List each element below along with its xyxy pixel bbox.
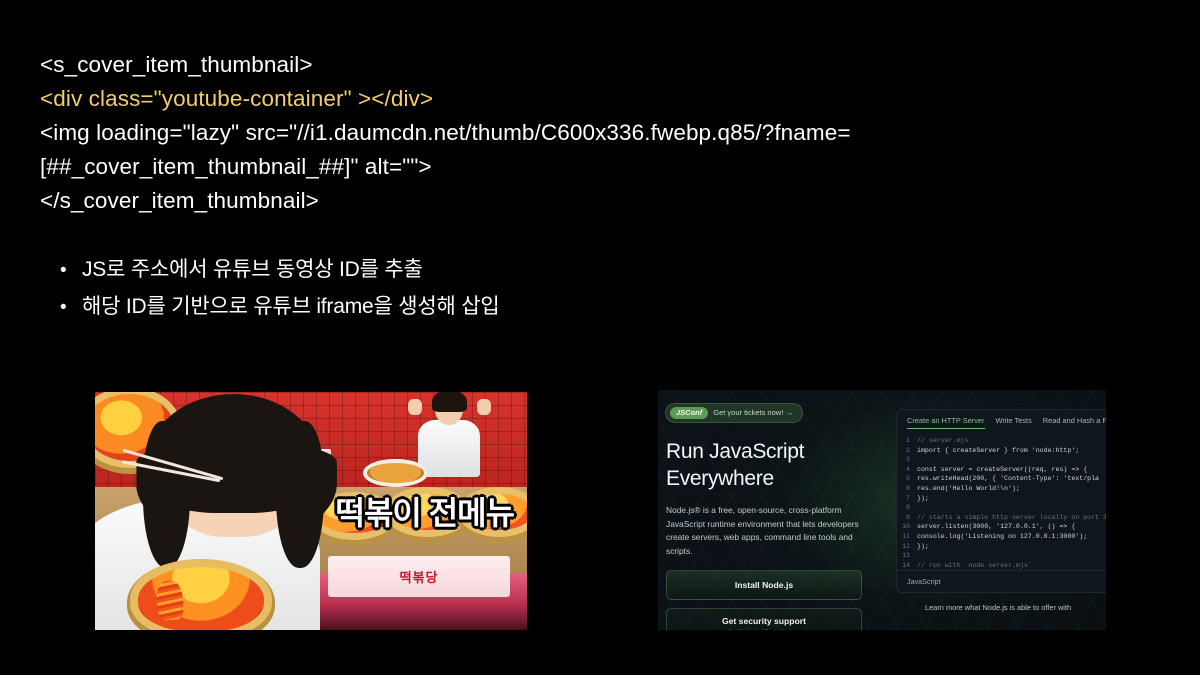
jsconf-announcement-text: Get your tickets now! → <box>713 409 793 417</box>
code-line: 1// server.mjs <box>897 436 1106 446</box>
code-line-text: server.listen(3000, '127.0.0.1', () => { <box>917 522 1075 532</box>
shop-signboard-text: 떡볶당 <box>400 567 439 586</box>
code-line: 5 res.writeHead(200, { 'Content-Type': '… <box>897 474 1106 484</box>
code-language-label: JavaScript <box>907 577 941 586</box>
bullet-text: 해당 ID를 기반으로 유튜브 iframe을 생성해 삽입 <box>82 289 499 325</box>
get-security-support-button-sublabel: for Node.js 18 and below <box>673 629 855 630</box>
code-line-text: console.log('Listening on 127.0.0.1:3000… <box>917 532 1087 542</box>
install-nodejs-button[interactable]: Install Node.js <box>666 570 862 600</box>
nodejs-heading-line-2: Everywhere <box>666 465 862 492</box>
code-snippet-line-4: [##_cover_item_thumbnail_##]" alt=""> <box>40 150 1050 184</box>
code-line: 12}); <box>897 542 1106 552</box>
code-line-text: res.writeHead(200, { 'Content-Type': 'te… <box>917 474 1099 484</box>
youtube-thumbnail-image: 떡볶당 떡볶이 전메뉴 <box>95 392 527 630</box>
code-line-number: 6 <box>897 484 917 494</box>
get-security-support-button-label: Get security support <box>673 616 855 626</box>
code-example-tabs: Create an HTTP Server Write Tests Read a… <box>897 410 1106 429</box>
code-line: 8 <box>897 503 1106 513</box>
list-item: • JS로 주소에서 유튜브 동영상 ID를 추출 <box>60 252 860 289</box>
jsconf-announcement-banner[interactable]: JSConf Get your tickets now! → <box>665 403 803 423</box>
code-line-number: 13 <box>897 551 917 561</box>
background-person-body <box>418 420 480 477</box>
background-person-hand-left <box>408 399 422 415</box>
code-line-text: // run with `node server.mjs` <box>917 561 1032 571</box>
code-line-number: 14 <box>897 561 917 571</box>
code-line: 6 res.end('Hello World!\n'); <box>897 484 1106 494</box>
eater-hair-strand-right <box>276 421 324 569</box>
code-line: 9// starts a simple http server locally … <box>897 513 1106 523</box>
install-nodejs-button-label: Install Node.js <box>673 580 855 590</box>
thumbnail-caption-overlay: 떡볶이 전메뉴 <box>336 488 515 534</box>
code-line-number: 12 <box>897 542 917 552</box>
tab-read-and-hash-a-file[interactable]: Read and Hash a File <box>1043 416 1106 429</box>
nodejs-hero-column: Run JavaScript Everywhere Node.js® is a … <box>666 438 862 630</box>
shop-signboard: 떡볶당 <box>328 556 509 596</box>
code-line-number: 2 <box>897 446 917 456</box>
code-snippet-line-5: </s_cover_item_thumbnail> <box>40 184 1050 218</box>
bullet-list: • JS로 주소에서 유튜브 동영상 ID를 추출 • 해당 ID를 기반으로 … <box>60 252 860 326</box>
code-line-number: 3 <box>897 455 917 465</box>
code-line-number: 7 <box>897 494 917 504</box>
code-snippet-line-3: <img loading="lazy" src="//i1.daumcdn.ne… <box>40 116 1050 150</box>
nodejs-heading-line-1: Run JavaScript <box>666 438 862 465</box>
code-snippet-line-1: <s_cover_item_thumbnail> <box>40 48 1050 82</box>
code-line-number: 9 <box>897 513 917 523</box>
fried-snack-bowl <box>363 459 428 488</box>
get-security-support-button[interactable]: Get security support for Node.js 18 and … <box>666 608 862 630</box>
code-line-number: 10 <box>897 522 917 532</box>
code-line: 3 <box>897 455 1106 465</box>
code-line-text: res.end('Hello World!\n'); <box>917 484 1020 494</box>
bullet-marker-icon: • <box>60 253 82 289</box>
code-line-number: 5 <box>897 474 917 484</box>
code-line: 10server.listen(3000, '127.0.0.1', () =>… <box>897 522 1106 532</box>
thumbnail-scene: 떡볶당 떡볶이 전메뉴 <box>95 392 527 630</box>
code-line-number: 1 <box>897 436 917 446</box>
jsconf-badge: JSConf <box>670 407 708 419</box>
tab-create-an-http-server[interactable]: Create an HTTP Server <box>907 416 985 429</box>
code-language-bar: JavaScript <box>897 570 1106 592</box>
code-line-number: 11 <box>897 532 917 542</box>
code-line: 4const server = createServer((req, res) … <box>897 465 1106 475</box>
code-line: 14// run with `node server.mjs` <box>897 561 1106 571</box>
background-person-hair <box>432 392 467 412</box>
code-line: 2import { createServer } from 'node:http… <box>897 446 1106 456</box>
lifted-noodles <box>155 580 183 621</box>
code-line-number: 8 <box>897 503 917 513</box>
code-line-text: import { createServer } from 'node:http'… <box>917 446 1079 456</box>
code-example-body: 1// server.mjs 2import { createServer } … <box>897 429 1106 570</box>
code-line-text: }); <box>917 494 929 504</box>
background-person-hand-right <box>477 399 491 415</box>
bullet-marker-icon: • <box>60 290 82 326</box>
code-snippet-block: <s_cover_item_thumbnail> <div class="you… <box>40 48 1050 218</box>
list-item: • 해당 ID를 기반으로 유튜브 iframe을 생성해 삽입 <box>60 289 860 326</box>
code-line-text: }); <box>917 542 929 552</box>
code-line-number: 4 <box>897 465 917 475</box>
code-line: 13 <box>897 551 1106 561</box>
learn-more-text: Learn more what Node.js is able to offer… <box>925 603 1071 612</box>
code-line-text: const server = createServer((req, res) =… <box>917 465 1087 475</box>
nodejs-description-paragraph: Node.js® is a free, open-source, cross-p… <box>666 504 862 558</box>
code-line: 7}); <box>897 494 1106 504</box>
code-line-text: // server.mjs <box>917 436 968 446</box>
code-line: 11 console.log('Listening on 127.0.0.1:3… <box>897 532 1106 542</box>
tab-write-tests[interactable]: Write Tests <box>996 416 1032 429</box>
code-line-text: // starts a simple http server locally o… <box>917 513 1106 523</box>
bullet-text: JS로 주소에서 유튜브 동영상 ID를 추출 <box>82 252 423 288</box>
code-example-card: Create an HTTP Server Write Tests Read a… <box>896 409 1106 593</box>
code-snippet-line-2: <div class="youtube-container" ></div> <box>40 82 1050 116</box>
eater-hair-strand-left <box>143 421 191 569</box>
nodejs-website-screenshot: JSConf Get your tickets now! → Run JavaS… <box>658 390 1106 630</box>
